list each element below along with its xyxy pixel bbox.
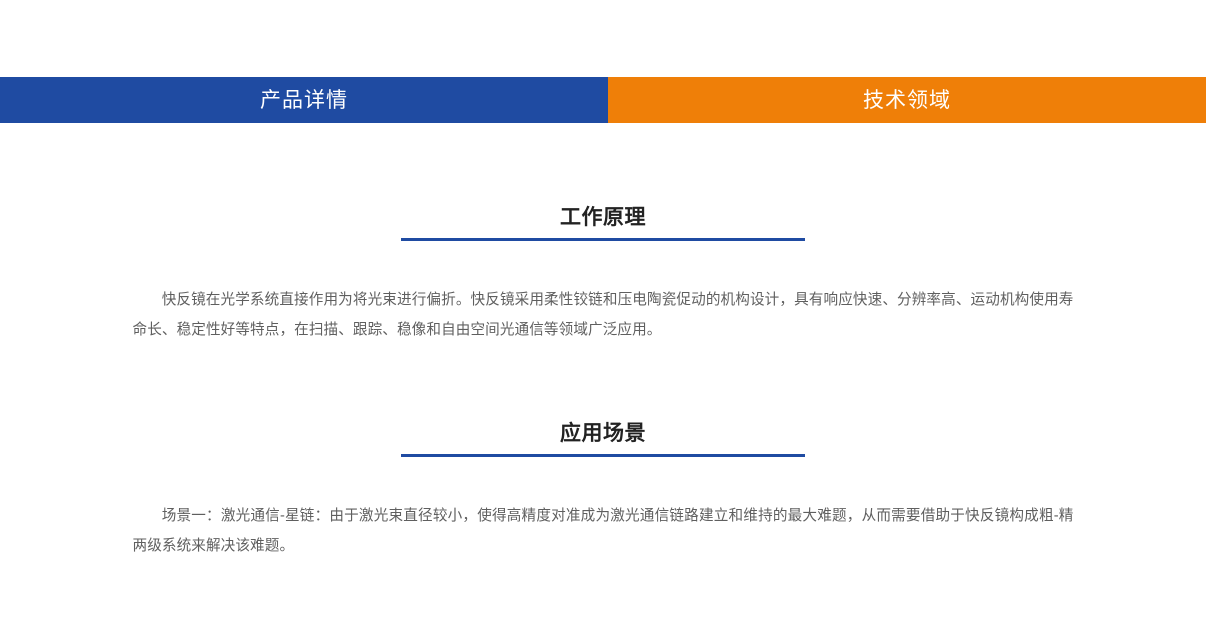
tab-product-details[interactable]: 产品详情 [0, 77, 608, 123]
tab-bar: 产品详情 技术领域 [0, 77, 1206, 123]
tab-product-details-label: 产品详情 [260, 90, 348, 111]
section-application-scenario-heading: 应用场景 [401, 421, 805, 457]
section-working-principle-body: 快反镜在光学系统直接作用为将光束进行偏折。快反镜采用柔性铰链和压电陶瓷促动的机构… [133, 241, 1074, 345]
tab-technical-field-label: 技术领域 [863, 90, 951, 111]
section-working-principle-paragraph: 快反镜在光学系统直接作用为将光束进行偏折。快反镜采用柔性铰链和压电陶瓷促动的机构… [133, 285, 1074, 345]
section-application-scenario-paragraph: 场景一：激光通信-星链：由于激光束直径较小，使得高精度对准成为激光通信链路建立和… [133, 501, 1074, 561]
tab-technical-field[interactable]: 技术领域 [608, 77, 1206, 123]
section-working-principle-heading: 工作原理 [401, 205, 805, 241]
section-application-scenario: 应用场景 场景一：激光通信-星链：由于激光束直径较小，使得高精度对准成为激光通信… [0, 421, 1206, 561]
section-working-principle: 工作原理 快反镜在光学系统直接作用为将光束进行偏折。快反镜采用柔性铰链和压电陶瓷… [0, 205, 1206, 345]
section-working-principle-title: 工作原理 [560, 206, 646, 229]
section-application-scenario-body: 场景一：激光通信-星链：由于激光束直径较小，使得高精度对准成为激光通信链路建立和… [133, 457, 1074, 561]
section-application-scenario-title: 应用场景 [560, 422, 646, 445]
